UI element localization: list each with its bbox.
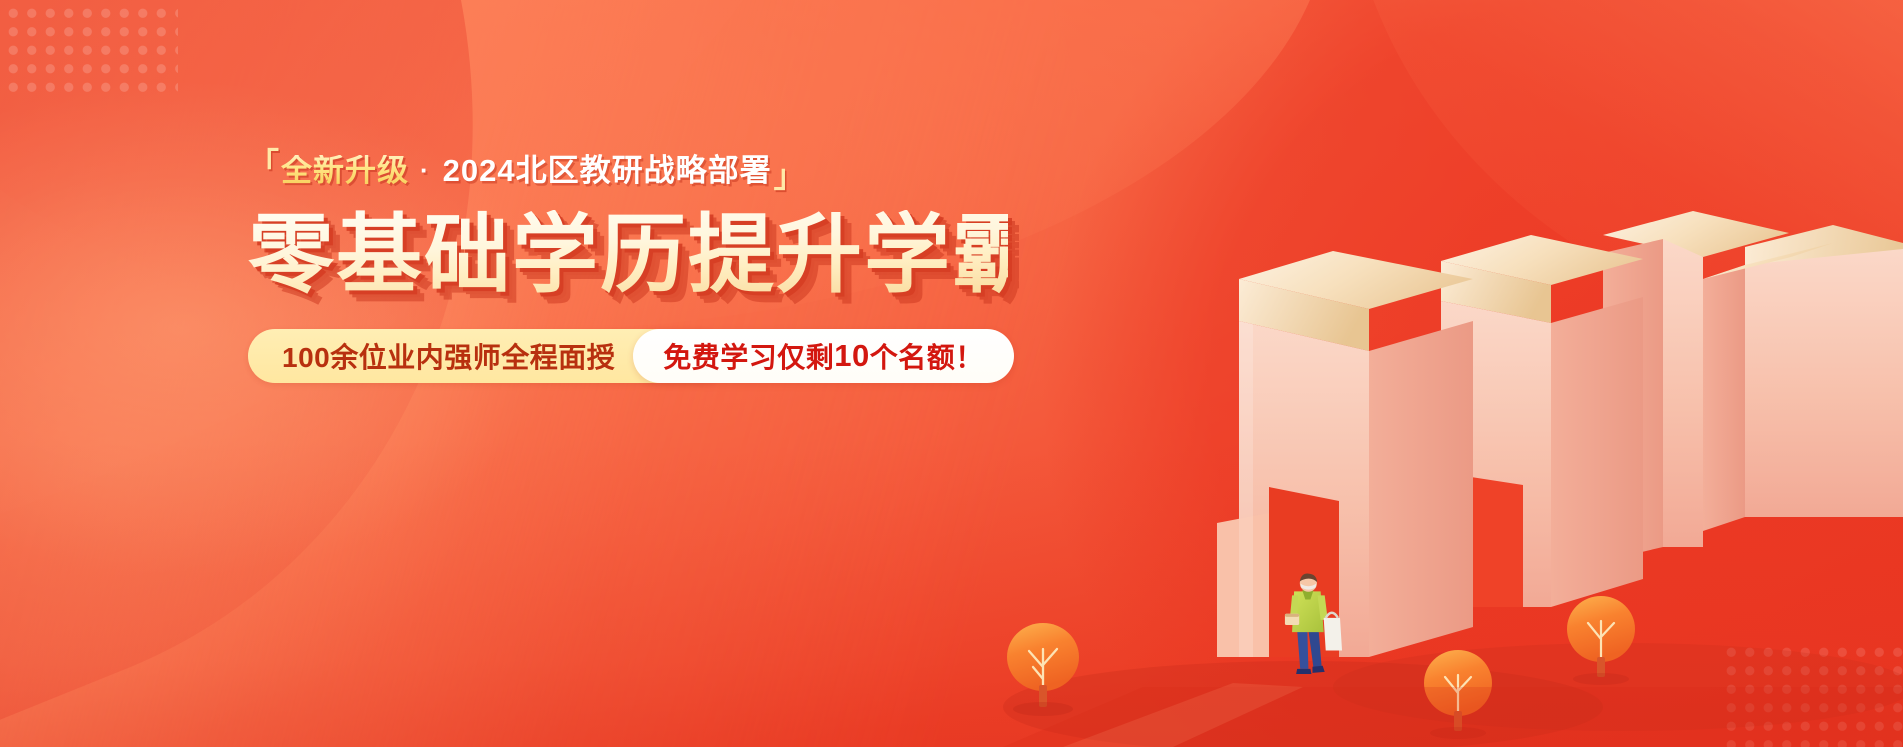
dot-grid-top-left-icon bbox=[0, 0, 178, 98]
badge-row: 100余位业内强师全程面授 免费学习仅剩10个名额！ bbox=[248, 329, 1008, 383]
slots-prefix-label: 免费学习仅剩 bbox=[663, 336, 834, 376]
sub-headline: 「 全新升级 · 2024北区教研战略部署 」 bbox=[248, 148, 1008, 192]
quote-bracket-close-icon: 」 bbox=[774, 161, 806, 192]
status-badge-instructors-label: 100余位业内强师全程面授 bbox=[282, 336, 615, 376]
dot-grid-bottom-right-icon bbox=[1718, 639, 1903, 747]
status-badge-slots-left: 免费学习仅剩10个名额！ bbox=[633, 329, 1014, 383]
slots-count: 10 bbox=[834, 338, 869, 374]
sub-headline-separator-icon: · bbox=[420, 157, 430, 183]
sub-headline-rest: 2024北区教研战略部署 bbox=[443, 155, 772, 186]
promo-banner: 「 全新升级 · 2024北区教研战略部署 」 零基础学历提升学霸班 100余位… bbox=[0, 0, 1903, 747]
sub-headline-highlight: 全新升级 bbox=[281, 155, 409, 186]
slots-suffix-label: 个名额！ bbox=[870, 336, 984, 376]
quote-bracket-open-icon: 「 bbox=[248, 149, 280, 180]
page-title: 零基础学历提升学霸班 bbox=[248, 210, 1008, 301]
copy-block: 「 全新升级 · 2024北区教研战略部署 」 零基础学历提升学霸班 100余位… bbox=[248, 148, 1008, 383]
background-floor-shade bbox=[0, 437, 1903, 747]
